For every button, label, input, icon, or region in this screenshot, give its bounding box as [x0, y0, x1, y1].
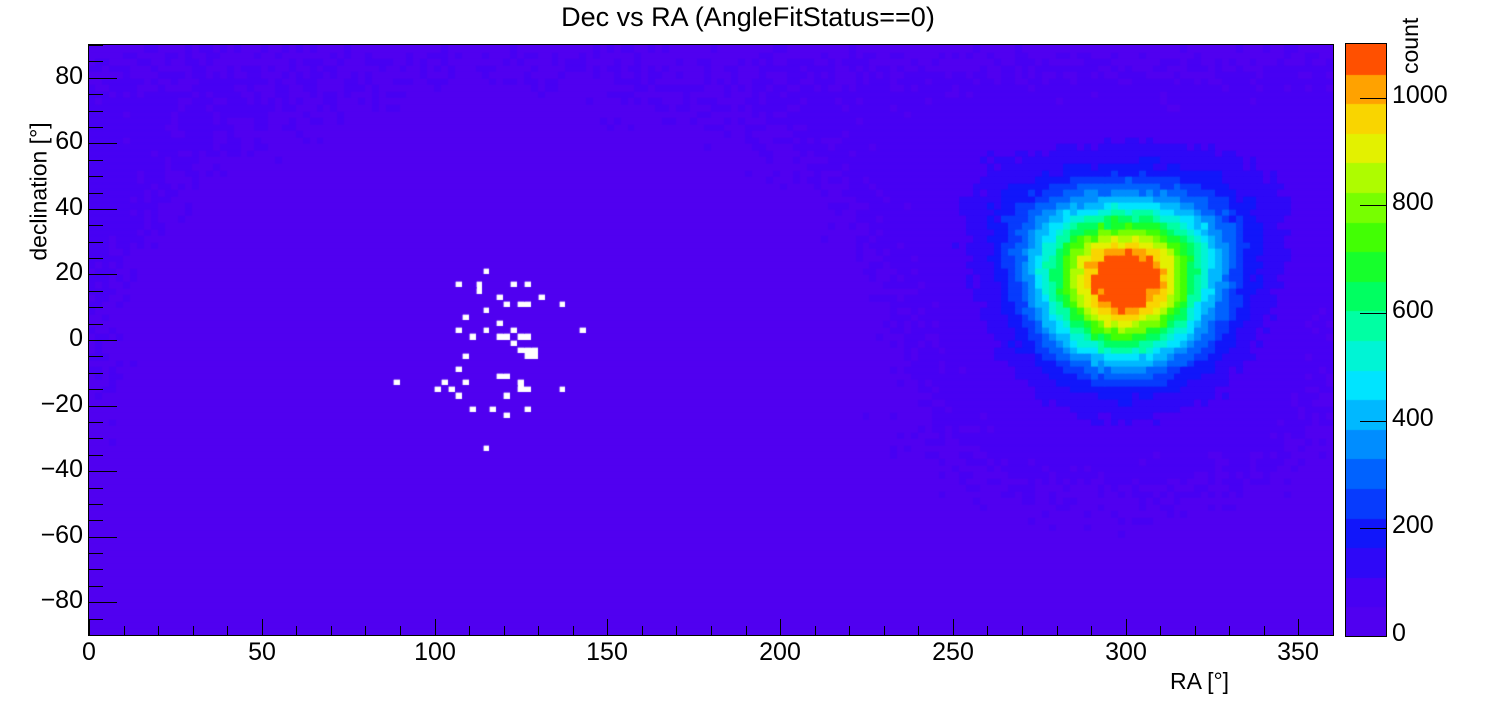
x-tick-major: [262, 619, 263, 635]
y-tick-minor: [89, 94, 103, 95]
x-axis-title: RA [°]: [1170, 668, 1229, 695]
colorbar-tick: [1360, 636, 1386, 637]
x-tick-minor: [1091, 626, 1092, 635]
y-tick-minor: [89, 193, 103, 194]
x-tick-minor: [642, 626, 643, 635]
colorbar-tick-label: 800: [1392, 188, 1434, 217]
x-tick-label: 150: [567, 638, 647, 667]
x-tick-major: [1126, 619, 1127, 635]
y-tick-major: [89, 78, 117, 79]
x-tick-minor: [746, 626, 747, 635]
x-tick-major: [1298, 619, 1299, 635]
x-tick-minor: [227, 626, 228, 635]
x-tick-major: [953, 619, 954, 635]
x-tick-label: 0: [49, 638, 129, 667]
colorbar-title: count: [1397, 0, 1424, 74]
y-tick-minor: [89, 127, 103, 128]
x-tick-minor: [849, 626, 850, 635]
y-tick-major: [89, 537, 117, 538]
x-tick-minor: [1195, 626, 1196, 635]
x-tick-minor: [400, 626, 401, 635]
y-tick-minor: [89, 307, 103, 308]
x-tick-minor: [918, 626, 919, 635]
x-tick-label: 300: [1086, 638, 1166, 667]
y-tick-minor: [89, 356, 103, 357]
x-tick-major: [780, 619, 781, 635]
x-tick-minor: [469, 626, 470, 635]
x-tick-minor: [1022, 626, 1023, 635]
x-tick-minor: [573, 626, 574, 635]
y-tick-minor: [89, 438, 103, 439]
y-tick-major: [89, 471, 117, 472]
y-tick-minor: [89, 45, 103, 46]
y-axis-title: declination [°]: [26, 62, 53, 322]
y-tick-minor: [89, 455, 103, 456]
x-tick-minor: [676, 626, 677, 635]
x-tick-minor: [1333, 626, 1334, 635]
colorbar-tick: [1360, 313, 1386, 314]
colorbar-tick-label: 200: [1392, 511, 1434, 540]
colorbar-tick: [1360, 528, 1386, 529]
y-tick-minor: [89, 520, 103, 521]
x-tick-major: [607, 619, 608, 635]
y-tick-label: −80: [13, 586, 83, 615]
x-tick-minor: [538, 626, 539, 635]
x-tick-minor: [296, 626, 297, 635]
y-tick-minor: [89, 504, 103, 505]
y-tick-minor: [89, 488, 103, 489]
colorbar-tick-label: 1000: [1392, 81, 1448, 110]
y-tick-minor: [89, 324, 103, 325]
x-tick-minor: [711, 626, 712, 635]
x-tick-minor: [124, 626, 125, 635]
x-tick-label: 200: [740, 638, 820, 667]
x-tick-minor: [1229, 626, 1230, 635]
x-tick-minor: [193, 626, 194, 635]
y-tick-label: 0: [13, 324, 83, 353]
colorbar-tick-label: 600: [1392, 296, 1434, 325]
chart-title: Dec vs RA (AngleFitStatus==0): [0, 2, 1496, 33]
x-tick-minor: [884, 626, 885, 635]
x-tick-minor: [1264, 626, 1265, 635]
y-tick-label: −60: [13, 521, 83, 550]
y-tick-minor: [89, 422, 103, 423]
x-tick-label: 350: [1258, 638, 1338, 667]
y-tick-major: [89, 602, 117, 603]
y-tick-minor: [89, 242, 103, 243]
x-tick-minor: [987, 626, 988, 635]
x-tick-minor: [815, 626, 816, 635]
x-tick-minor: [331, 626, 332, 635]
colorbar-tick: [1360, 98, 1386, 99]
y-tick-minor: [89, 373, 103, 374]
y-tick-minor: [89, 111, 103, 112]
x-tick-label: 250: [913, 638, 993, 667]
histogram-canvas: [89, 45, 1333, 635]
y-tick-major: [89, 340, 117, 341]
x-tick-minor: [158, 626, 159, 635]
y-tick-minor: [89, 291, 103, 292]
y-tick-major: [89, 209, 117, 210]
y-tick-minor: [89, 258, 103, 259]
y-tick-minor: [89, 619, 103, 620]
colorbar-canvas: [1346, 44, 1386, 636]
y-tick-minor: [89, 225, 103, 226]
x-tick-label: 50: [222, 638, 302, 667]
y-tick-minor: [89, 160, 103, 161]
y-tick-minor: [89, 635, 103, 636]
y-tick-major: [89, 274, 117, 275]
x-tick-minor: [1160, 626, 1161, 635]
y-tick-minor: [89, 389, 103, 390]
y-tick-minor: [89, 61, 103, 62]
y-tick-minor: [89, 176, 103, 177]
y-tick-label: −20: [13, 390, 83, 419]
y-tick-major: [89, 406, 117, 407]
colorbar-tick: [1360, 205, 1386, 206]
chart-root: Dec vs RA (AngleFitStatus==0) −80−60−40−…: [0, 0, 1496, 722]
x-tick-minor: [1057, 626, 1058, 635]
x-tick-minor: [504, 626, 505, 635]
x-tick-major: [435, 619, 436, 635]
colorbar-tick: [1360, 421, 1386, 422]
y-tick-minor: [89, 586, 103, 587]
y-tick-minor: [89, 569, 103, 570]
y-tick-major: [89, 143, 117, 144]
colorbar-tick-label: 400: [1392, 404, 1434, 433]
y-tick-minor: [89, 553, 103, 554]
x-tick-major: [89, 619, 90, 635]
x-tick-label: 100: [395, 638, 475, 667]
y-tick-label: −40: [13, 455, 83, 484]
x-tick-minor: [365, 626, 366, 635]
colorbar-tick-label: 0: [1392, 619, 1406, 648]
